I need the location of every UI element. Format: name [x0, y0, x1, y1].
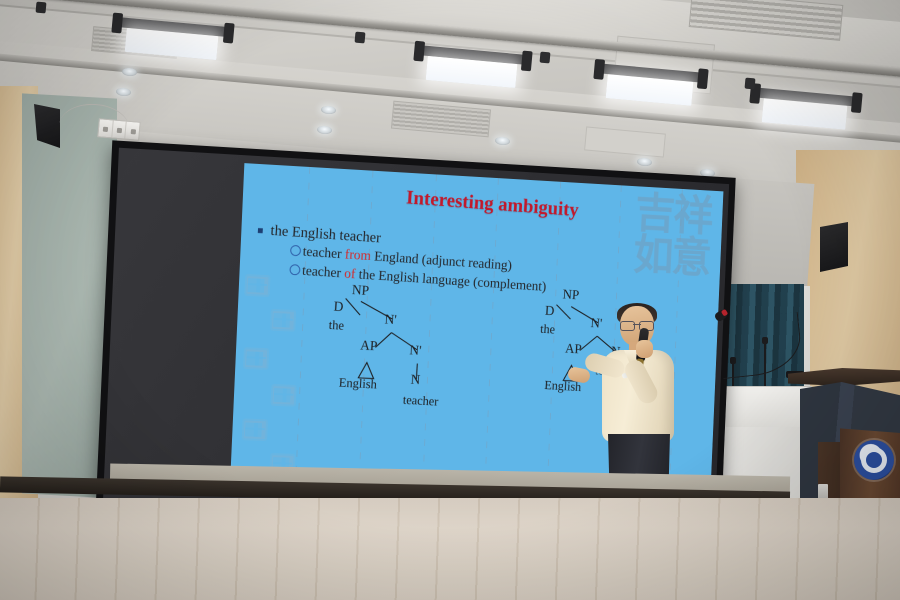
track-spotlight-icon [745, 78, 756, 90]
power-outlet-icon[interactable] [97, 118, 140, 141]
slide-title: Interesting ambiguity [405, 187, 579, 222]
tree-node-d: D [333, 300, 344, 316]
tree-leaf-english: English [338, 375, 377, 393]
sub-bullet-2-highlight: of [344, 267, 356, 282]
track-spotlight-icon [540, 52, 551, 64]
tree-node-d: D [545, 304, 555, 320]
light-bracket [851, 92, 863, 113]
light-bracket [223, 23, 235, 44]
tree-node-ap: AP [565, 342, 582, 358]
light-bracket [413, 41, 425, 62]
track-spotlight-icon [355, 32, 366, 44]
seal-core [866, 452, 882, 468]
bullet-text: the English teacher [270, 223, 381, 246]
circle-bullet-icon [289, 264, 300, 276]
tree-leaf-teacher: teacher [402, 392, 438, 410]
tree-node-np: NP [351, 283, 369, 300]
track-spotlight-icon [36, 2, 47, 14]
mic-stem [717, 312, 804, 379]
light-bracket [697, 68, 709, 89]
syntax-tree-adjunct: NP D N' AP N' N the English teacher [318, 285, 505, 422]
wall-speaker-icon [820, 222, 848, 272]
slide-bullet-level1: the English teacher [257, 222, 381, 247]
light-bracket [111, 13, 123, 34]
tree-leaf-the: the [328, 317, 344, 334]
lecture-hall-photo: 吉祥如意 Interesting ambiguity the English t… [0, 0, 900, 600]
college-seal-icon [854, 440, 894, 480]
tree-node-np: NP [562, 288, 579, 304]
sub-bullet-2-pre: teacher [302, 264, 345, 282]
light-bracket [593, 59, 605, 80]
circle-bullet-icon [290, 245, 301, 257]
square-bullet-icon [258, 228, 263, 233]
tree-node-nbar2: N' [409, 344, 422, 360]
floor [0, 498, 900, 600]
tree-node-nbar1: N' [384, 313, 397, 329]
tree-node-ap: AP [360, 339, 378, 356]
gooseneck-microphone-icon [720, 316, 800, 374]
presenter-right-hand [636, 340, 653, 358]
sub-bullet-1-pre: teacher [302, 245, 345, 263]
outlet-socket [126, 122, 140, 140]
sub-bullet-1-highlight: from [344, 248, 371, 264]
glasses-icon [620, 321, 654, 329]
light-bracket [521, 51, 533, 72]
tree-node-n: N [410, 373, 420, 389]
tree-leaf-the: the [540, 321, 556, 337]
